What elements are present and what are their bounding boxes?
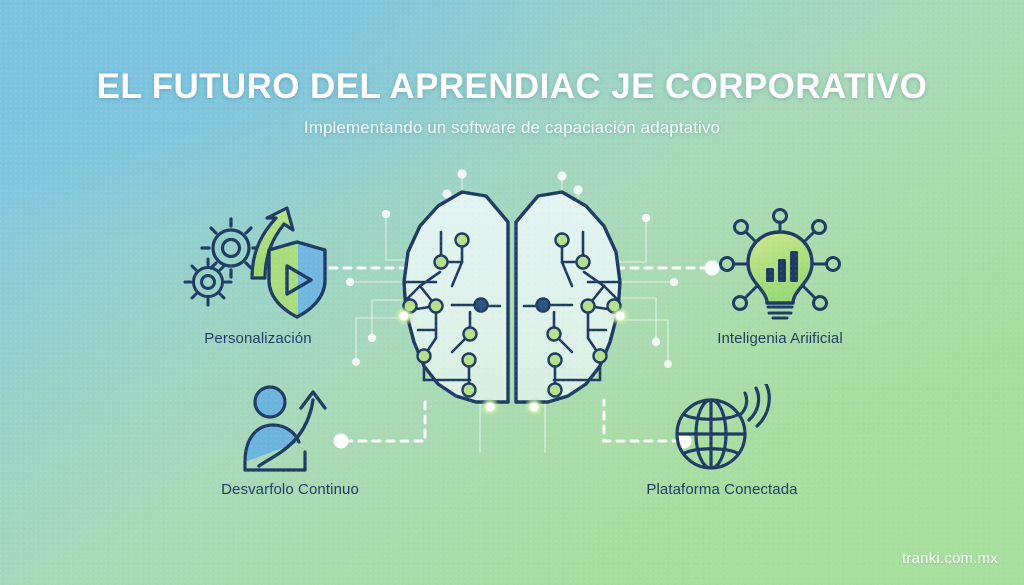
feature-label-inteligencia-artificial: Inteligenia Ariificial bbox=[670, 330, 890, 347]
feature-label-personalizacion: Personalización bbox=[148, 330, 368, 347]
globe-icon bbox=[677, 400, 745, 468]
feature-desarrollo-continuo[interactable]: Desvarfolo Continuo bbox=[180, 382, 400, 498]
feature-personalizacion[interactable]: Personalización bbox=[148, 206, 368, 347]
watermark: tranki.com.mx bbox=[902, 550, 998, 567]
globe-wifi-icon bbox=[612, 382, 832, 477]
header: EL FUTURO DEL APRENDIAC JE CORPORATIVO I… bbox=[0, 68, 1024, 138]
person-growth-arrow-icon bbox=[180, 382, 400, 477]
gear-small-icon bbox=[185, 259, 231, 305]
gears-shield-play-arrow-icon bbox=[148, 206, 368, 326]
page-title: EL FUTURO DEL APRENDIAC JE CORPORATIVO bbox=[0, 68, 1024, 107]
infographic-canvas: EL FUTURO DEL APRENDIAC JE CORPORATIVO I… bbox=[0, 0, 1024, 585]
feature-plataforma-conectada[interactable]: Plataforma Conectada bbox=[612, 382, 832, 498]
brain-right-hemisphere bbox=[516, 192, 621, 402]
feature-inteligencia-artificial[interactable]: Inteligenia Ariificial bbox=[670, 206, 890, 347]
feature-label-desarrollo-continuo: Desvarfolo Continuo bbox=[180, 481, 400, 498]
wifi-signal-icon bbox=[741, 384, 769, 426]
lightbulb-barchart-network-icon bbox=[670, 206, 890, 326]
brain-left-hemisphere bbox=[404, 192, 509, 402]
page-subtitle: Implementando un software de capaciación… bbox=[0, 118, 1024, 138]
shield-icon bbox=[269, 242, 325, 317]
feature-label-plataforma-conectada: Plataforma Conectada bbox=[612, 481, 832, 498]
lightbulb-base bbox=[768, 307, 792, 318]
